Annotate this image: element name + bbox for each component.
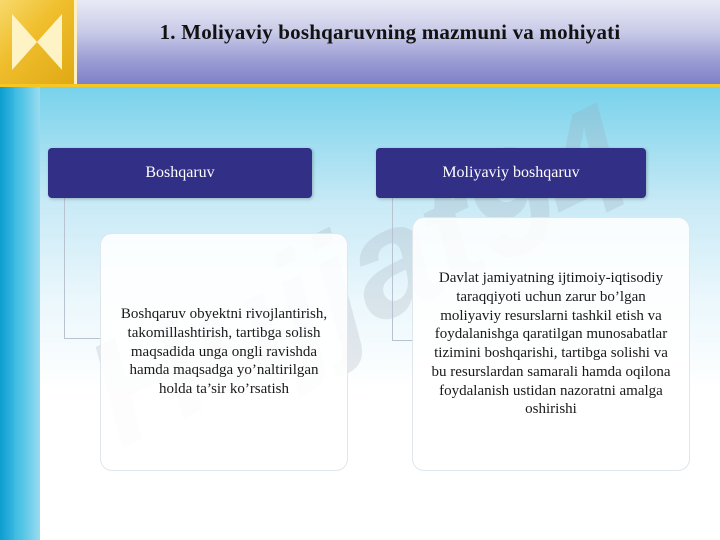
slide: Hujjat94 1. Moliyaviy boshqaruvning mazm… [0, 0, 720, 540]
node-header-label: Moliyaviy boshqaruv [442, 164, 579, 182]
connector-left [64, 198, 103, 339]
left-decorative-strip-inner [0, 84, 14, 540]
bowtie-icon [12, 14, 62, 70]
page-title: 1. Moliyaviy boshqaruvning mazmuni va mo… [90, 20, 690, 45]
node-body-text: Davlat jamiyatning ijtimoiy-iqtisodiy ta… [427, 269, 675, 419]
node-header-moliyaviy-boshqaruv[interactable]: Moliyaviy boshqaruv [376, 148, 646, 198]
node-body-moliyaviy-boshqaruv: Davlat jamiyatning ijtimoiy-iqtisodiy ta… [412, 217, 690, 471]
node-header-label: Boshqaruv [145, 164, 214, 182]
node-header-boshqaruv[interactable]: Boshqaruv [48, 148, 312, 198]
node-body-boshqaruv: Boshqaruv obyektni rivojlantirish, takom… [100, 233, 348, 471]
node-body-text: Boshqaruv obyektni rivojlantirish, takom… [115, 305, 333, 399]
gold-ornament-box [0, 0, 77, 84]
